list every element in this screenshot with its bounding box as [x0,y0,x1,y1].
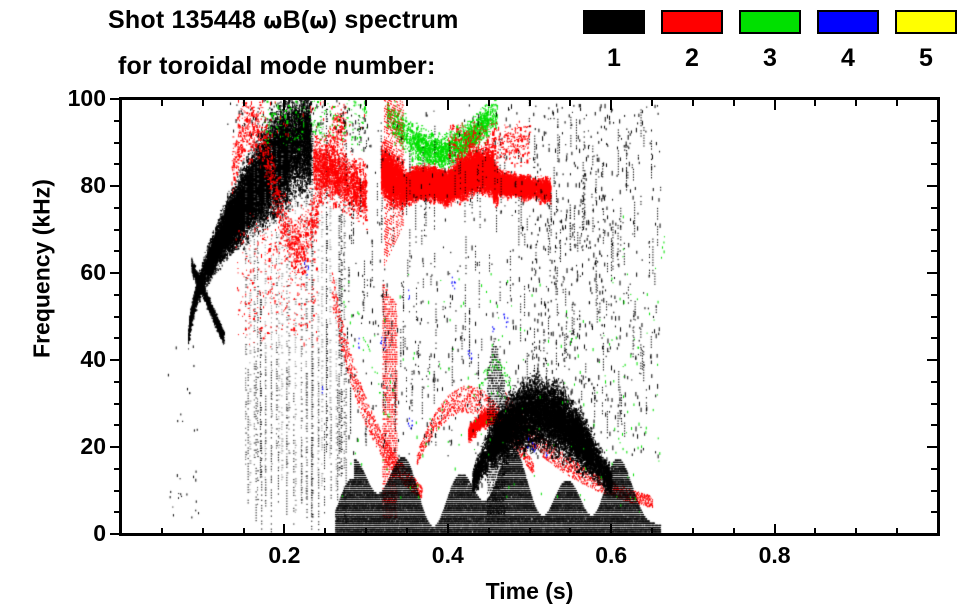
omega-symbol-2: ω [309,9,328,34]
x-tick-top [243,99,245,106]
y-tick [114,490,121,492]
x-tick-label: 0.6 [571,544,651,567]
y-tick-right [931,337,938,339]
x-tick-top [488,99,490,106]
y-tick [114,142,121,144]
y-tick [114,163,121,165]
title-prefix: Shot 135448 [108,6,263,34]
y-tick [114,403,121,405]
x-tick-top [283,99,285,110]
x-tick [161,528,163,535]
x-tick [896,528,898,535]
x-tick [937,528,939,535]
legend-label-n2: 2 [661,46,723,71]
x-tick-top [324,99,326,106]
y-tick [114,316,121,318]
y-tick [114,207,121,209]
legend-swatch-n3 [739,10,801,34]
legend-swatch-n2 [661,10,723,34]
x-tick [406,528,408,535]
x-tick [529,528,531,535]
legend-label-n3: 3 [739,46,801,71]
x-tick-labels: 0.20.40.60.8 [0,544,963,584]
x-tick [488,528,490,535]
x-tick-top [202,99,204,106]
y-tick-right [931,468,938,470]
y-tick [110,272,121,274]
x-tick-top [814,99,816,106]
y-tick-labels: 020406080100 [36,0,106,615]
y-tick-right [927,446,938,448]
y-tick-right [931,229,938,231]
x-tick-top [610,99,612,110]
x-tick [447,524,449,535]
y-tick [110,359,121,361]
mode-number-legend: 1 2 3 4 5 [583,10,955,90]
x-tick [283,524,285,535]
y-tick-right [931,403,938,405]
x-tick [733,528,735,535]
x-tick [610,524,612,535]
y-tick [114,229,121,231]
x-tick [243,528,245,535]
x-tick-top [529,99,531,106]
figure-title-line2: for toroidal mode number: [118,52,436,81]
y-tick [110,446,121,448]
x-tick [814,528,816,535]
x-tick-top [447,99,449,110]
x-tick-top [569,99,571,106]
y-tick-label: 80 [46,174,106,197]
y-tick-right [931,511,938,513]
y-tick-right [927,272,938,274]
plot-area [121,99,938,534]
y-tick-right [931,120,938,122]
legend-swatch-n1 [583,10,645,34]
y-tick [114,468,121,470]
spectrogram-figure: Shot 135448 ωB(ω) spectrum for toroidal … [0,0,963,615]
x-tick-top [937,99,939,106]
x-tick-top [651,99,653,106]
y-tick-right [931,424,938,426]
x-tick-top [774,99,776,110]
y-tick-label: 40 [46,348,106,371]
y-tick [114,511,121,513]
y-tick-right [931,207,938,209]
y-tick-label: 60 [46,261,106,284]
figure-title-line1: Shot 135448 ωB(ω) spectrum [108,6,459,35]
y-tick-right [931,142,938,144]
x-tick-top [365,99,367,106]
x-tick-label: 0.2 [244,544,324,567]
legend-item-1: 1 [583,10,645,71]
legend-label-n4: 4 [817,46,879,71]
x-tick [651,528,653,535]
y-tick [114,424,121,426]
x-tick-top [855,99,857,106]
x-tick [569,528,571,535]
y-tick-label: 20 [46,435,106,458]
y-tick [114,294,121,296]
x-tick-top [161,99,163,106]
title-suffix: ) spectrum [329,6,459,34]
y-tick [114,120,121,122]
legend-item-3: 3 [739,10,801,71]
x-tick [855,528,857,535]
x-tick-top [406,99,408,106]
y-tick-right [931,250,938,252]
spectrogram-canvas [121,99,938,534]
y-tick [114,337,121,339]
x-tick-top [896,99,898,106]
legend-swatch-n5 [895,10,957,34]
legend-item-5: 5 [895,10,957,71]
x-tick-top [733,99,735,106]
x-tick-label: 0.4 [408,544,488,567]
y-tick-label: 100 [46,87,106,110]
legend-item-2: 2 [661,10,723,71]
x-tick-top [120,99,122,106]
y-tick-right [931,294,938,296]
y-tick [114,250,121,252]
legend-label-n5: 5 [895,46,957,71]
y-tick-right [931,490,938,492]
y-tick-right [931,381,938,383]
legend-item-4: 4 [817,10,879,71]
y-tick [114,381,121,383]
y-tick [110,185,121,187]
x-tick [774,524,776,535]
x-tick [692,528,694,535]
y-tick-label: 0 [46,522,106,545]
title-middle: B( [283,6,310,34]
x-tick [324,528,326,535]
y-tick-right [927,185,938,187]
legend-swatch-n4 [817,10,879,34]
y-tick-right [927,359,938,361]
legend-label-n1: 1 [583,46,645,71]
x-tick-label: 0.8 [735,544,815,567]
x-tick [365,528,367,535]
x-tick [202,528,204,535]
y-tick-right [931,316,938,318]
x-tick-top [692,99,694,106]
y-tick-right [931,163,938,165]
omega-symbol-1: ω [263,9,282,34]
x-tick [120,528,122,535]
